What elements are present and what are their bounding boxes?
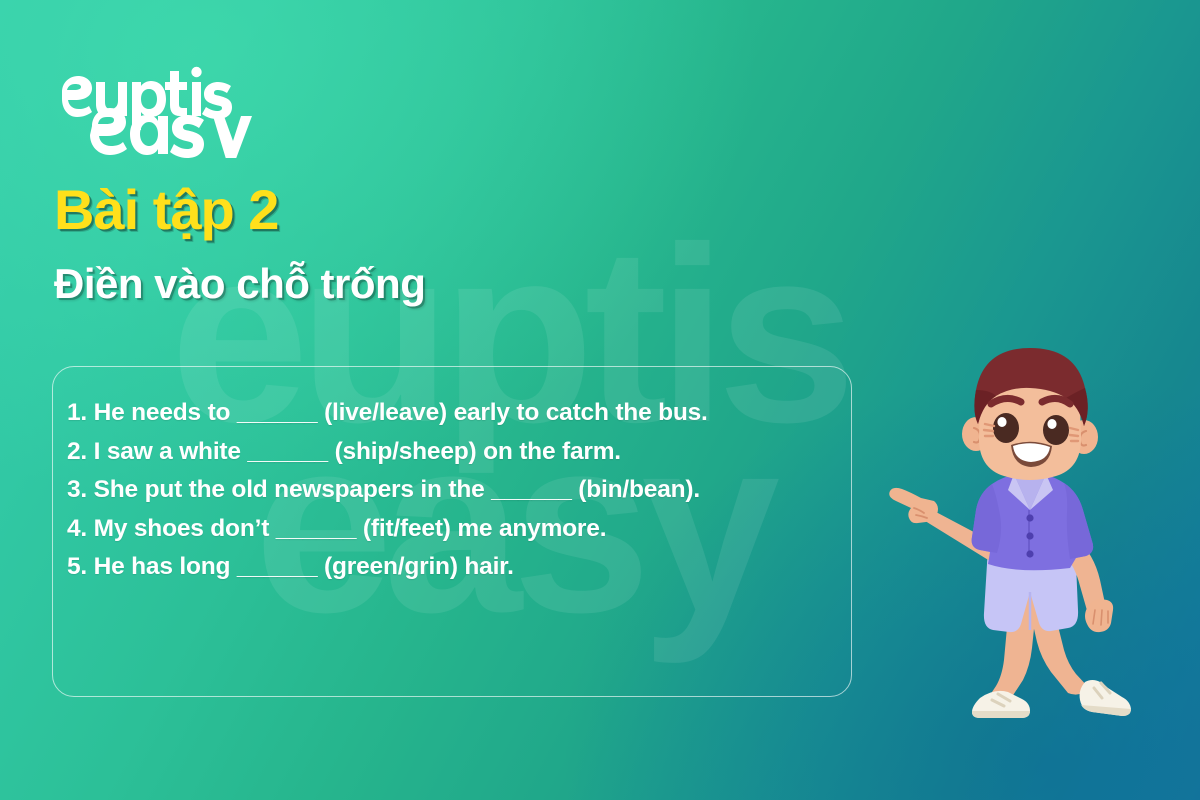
page-subtitle: Điền vào chỗ trống bbox=[54, 262, 425, 306]
list-item: 4. My shoes don’t ______ (fit/feet) me a… bbox=[67, 510, 837, 549]
list-item: 3. She put the old newspapers in the ___… bbox=[67, 471, 837, 510]
list-item: 5. He has long ______ (green/grin) hair. bbox=[67, 548, 837, 587]
questions-card: 1. He needs to ______ (live/leave) early… bbox=[52, 366, 852, 697]
boy-pointing-left-illustration bbox=[880, 342, 1170, 722]
questions-list: 1. He needs to ______ (live/leave) early… bbox=[67, 394, 837, 587]
euptis-easy-logo[interactable] bbox=[56, 58, 286, 158]
list-item: 2. I saw a white ______ (ship/sheep) on … bbox=[67, 433, 837, 472]
poster-canvas: euptis easy bbox=[0, 0, 1200, 800]
list-item: 1. He needs to ______ (live/leave) early… bbox=[67, 394, 837, 433]
page-title: Bài tập 2 bbox=[54, 181, 278, 240]
